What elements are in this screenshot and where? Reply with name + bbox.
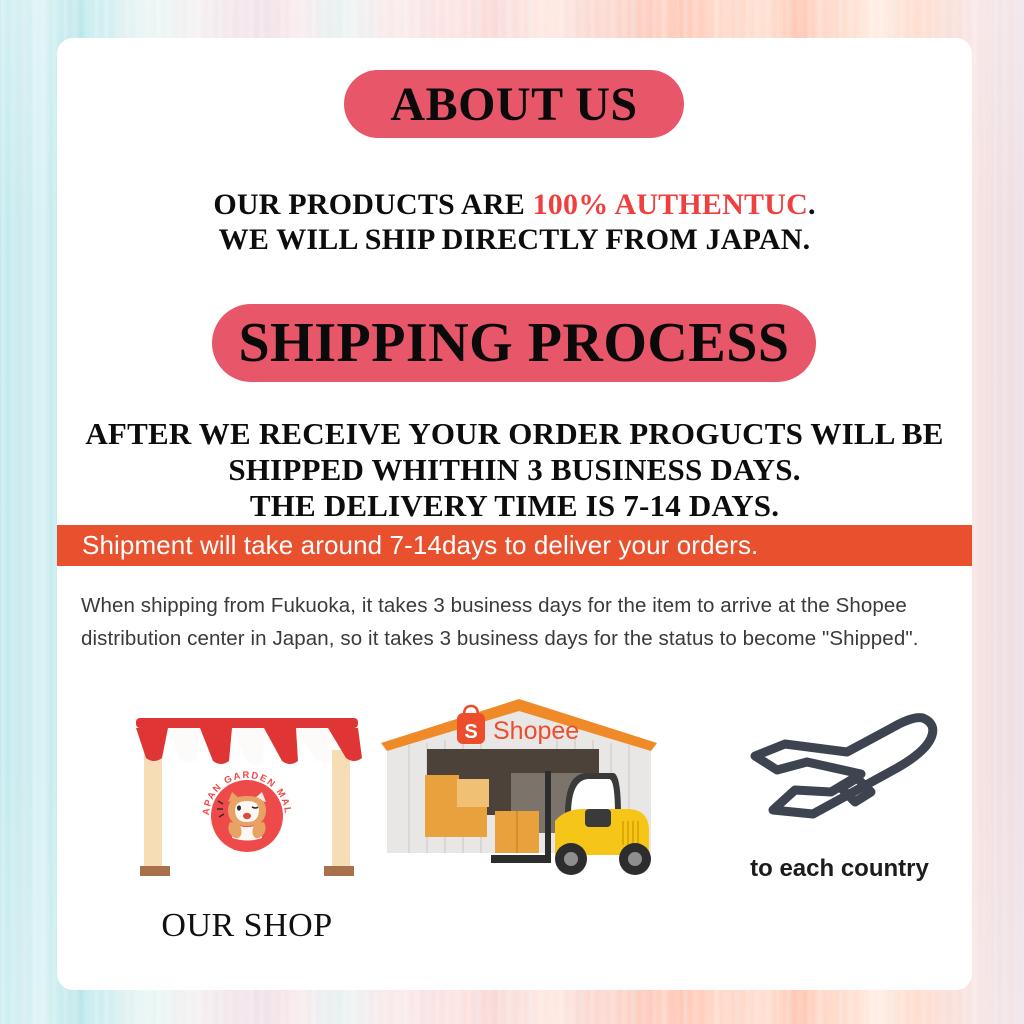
fukuoka-shipping-paragraph: When shipping from Fukuoka, it takes 3 b… [81,590,951,656]
warehouse-svg: S Shopee [369,693,669,883]
forklift-seat [585,809,611,827]
shop-front-svg: JAPAN GARDEN MALL [122,698,372,898]
our-shop-illustration: JAPAN GARDEN MALL [122,698,372,945]
shop-left-base [140,866,170,876]
shop-right-pillar [332,750,350,870]
shipping-process-heading-pill: SHIPPING PROCESS [212,304,816,382]
shop-awning-stripes [136,728,362,765]
warehouse-box-3 [457,779,489,807]
about-us-line-1: OUR PRODUCTS ARE 100% AUTHENTUC. [57,188,972,223]
shipment-duration-banner: Shipment will take around 7-14days to de… [57,525,972,566]
about-us-line-2: WE WILL SHIP DIRECTLY FROM JAPAN. [57,223,972,258]
our-shop-label: OUR SHOP [122,907,372,945]
about-us-heading-label: ABOUT US [390,77,637,132]
about-us-line-1-prefix: OUR PRODUCTS ARE [213,188,532,221]
shopee-wordmark: Shopee [493,717,579,745]
airplane-illustration: to each country [717,698,962,883]
shipping-process-line-3: THE DELIVERY TIME IS 7-14 DAYS. [57,488,972,524]
mascot-left-eye [237,805,241,810]
to-each-country-label: to each country [717,855,962,883]
shop-right-base [324,866,354,876]
shipping-process-body: AFTER WE RECEIVE YOUR ORDER PROGUCTS WIL… [57,416,972,524]
forklift-mast [545,771,551,863]
about-us-body: OUR PRODUCTS ARE 100% AUTHENTUC. WE WILL… [57,188,972,258]
about-us-line-1-suffix: . [808,188,816,221]
airplane-svg [717,698,962,848]
shopee-bag-s: S [464,721,477,743]
airplane-outline [755,718,933,814]
mascot-mouth [243,813,251,819]
shipping-process-line-2: SHIPPED WHITHIN 3 BUSINESS DAYS. [57,452,972,488]
forklift-fork [491,855,549,863]
warehouse-box-2 [425,805,487,837]
shop-awning-board [136,718,358,728]
shop-left-pillar [144,750,162,870]
warehouse-illustration: S Shopee [369,693,669,888]
about-us-heading-pill: ABOUT US [344,70,684,138]
authentic-highlight: 100% AUTHENTUC [533,188,808,221]
shipping-process-line-1: AFTER WE RECEIVE YOUR ORDER PROGUCTS WIL… [57,416,972,452]
shipping-process-heading-label: SHIPPING PROCESS [239,311,790,375]
content-card: ABOUT US OUR PRODUCTS ARE 100% AUTHENTUC… [57,38,972,990]
shipment-duration-banner-label: Shipment will take around 7-14days to de… [57,530,758,561]
shop-logo-bottom-text: NNY [233,841,261,853]
